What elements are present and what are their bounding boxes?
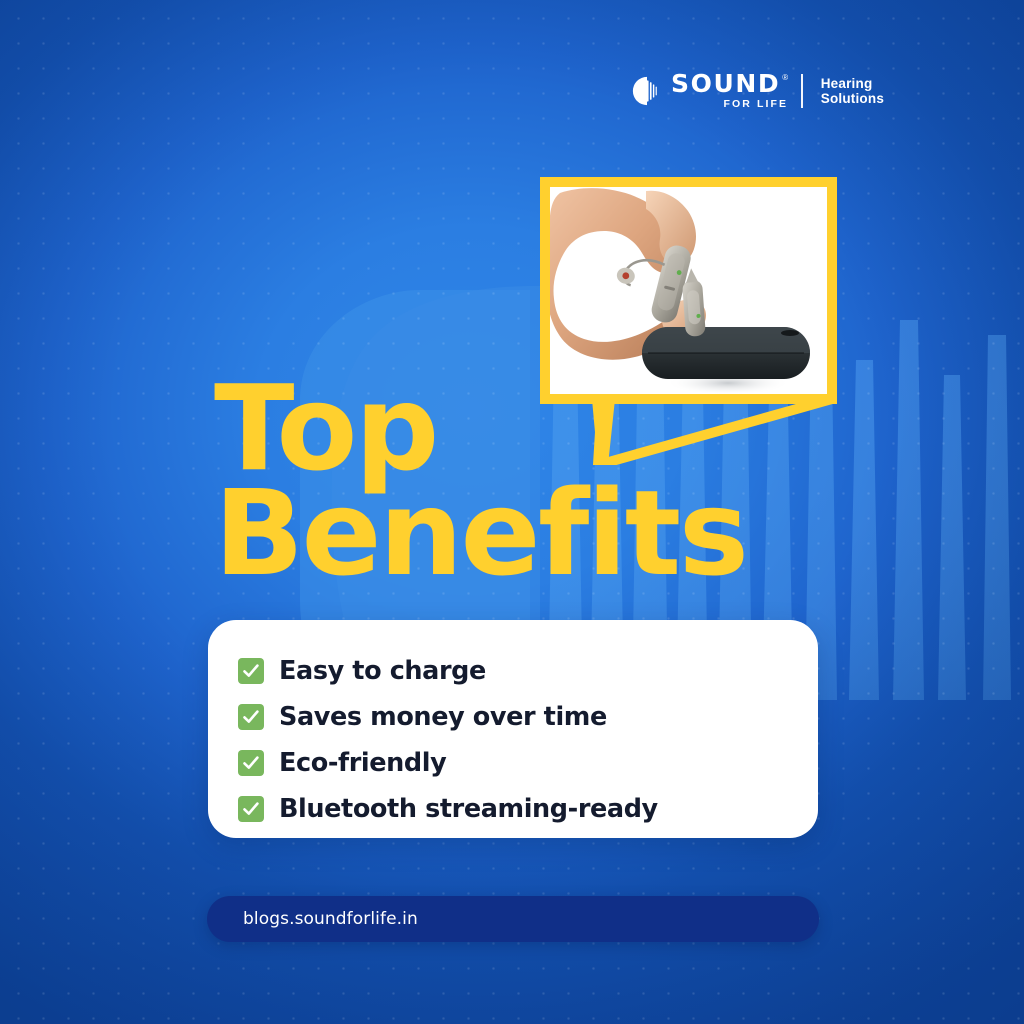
list-item-label: Easy to charge [279, 656, 486, 686]
list-item: Saves money over time [238, 694, 818, 739]
list-item-label: Saves money over time [279, 702, 607, 732]
logo-wordmark: SOUND ® FOR LIFE [671, 72, 788, 109]
registered-trademark-icon: ® [782, 74, 788, 82]
list-item: Easy to charge [238, 648, 818, 693]
logo-brand-text: SOUND [671, 72, 780, 96]
logo-subbrand-line2: Solutions [821, 91, 884, 106]
list-item: Eco-friendly [238, 740, 818, 785]
benefits-card: Easy to charge Saves money over time Eco… [208, 620, 818, 838]
brand-logo: SOUND ® FOR LIFE Hearing Solutions [632, 72, 884, 109]
check-mark-icon [238, 796, 264, 822]
poster-canvas: SOUND ® FOR LIFE Hearing Solutions [0, 0, 1024, 1024]
list-item-label: Eco-friendly [279, 748, 446, 778]
page-title-line2: Benefits [214, 483, 746, 584]
website-url-text: blogs.soundforlife.in [243, 909, 418, 929]
list-item: Bluetooth streaming-ready [238, 786, 818, 831]
sound-wave-circle-icon [632, 76, 662, 106]
website-url-pill[interactable]: blogs.soundforlife.in [207, 896, 819, 942]
check-mark-icon [238, 750, 264, 776]
list-item-label: Bluetooth streaming-ready [279, 794, 658, 824]
logo-subbrand: Hearing Solutions [821, 76, 884, 106]
logo-divider [801, 74, 803, 108]
check-mark-icon [238, 658, 264, 684]
logo-subbrand-line1: Hearing [821, 76, 884, 91]
logo-tagline: FOR LIFE [671, 99, 788, 110]
page-title: Top Benefits [214, 378, 746, 585]
check-mark-icon [238, 704, 264, 730]
